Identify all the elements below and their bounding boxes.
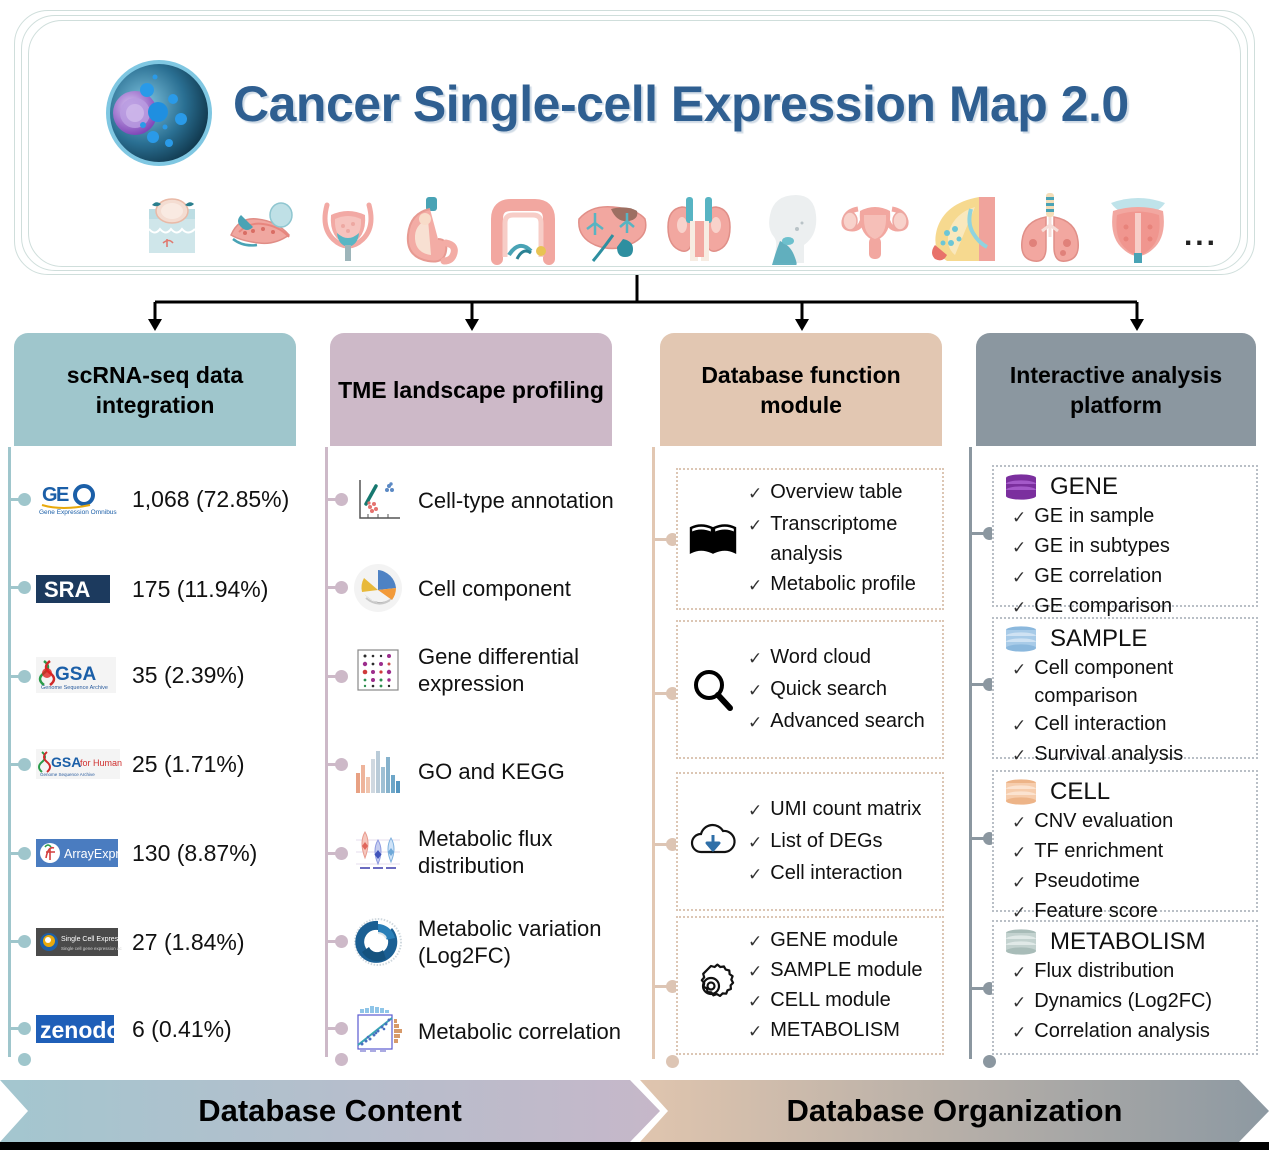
column-title-platform: Interactive analysis platform bbox=[976, 333, 1256, 446]
node-gde bbox=[335, 670, 348, 683]
footer-banner: Database Content Database Organization bbox=[0, 1080, 1269, 1142]
function-item: Advanced search bbox=[770, 706, 925, 738]
bar-chart-icon bbox=[352, 745, 404, 797]
function-list-browse: ✓Overview table ✓Transcriptome analysis … bbox=[748, 477, 936, 601]
tme-item-metabolic-flux-distribution: Metabolic flux distribution bbox=[352, 825, 622, 879]
check-icon: ✓ bbox=[748, 706, 762, 738]
tme-label-metabolic-correlation: Metabolic correlation bbox=[418, 1018, 621, 1045]
check-icon: ✓ bbox=[748, 794, 762, 826]
connector-tree bbox=[0, 275, 1269, 335]
dot-heatmap-icon bbox=[352, 644, 404, 696]
zenodo-logo: zenodo bbox=[36, 1012, 122, 1046]
platform-module-sample[interactable]: SAMPLE ✓Cell component comparison ✓Cell … bbox=[992, 617, 1258, 759]
skin-icon bbox=[128, 189, 216, 265]
node-sra bbox=[18, 581, 31, 594]
rail-col2 bbox=[325, 447, 328, 1057]
function-item: List of DEGs bbox=[770, 826, 882, 858]
check-icon: ✓ bbox=[1012, 957, 1026, 987]
svg-text:ArrayExpress: ArrayExpress bbox=[64, 847, 122, 861]
platform-item: GE correlation bbox=[1034, 562, 1162, 592]
svg-text:E: E bbox=[56, 484, 69, 506]
platform-item: Cell component comparison bbox=[1034, 654, 1248, 710]
source-row-scea: Single Cell Expression Atlas Single cell… bbox=[36, 925, 245, 959]
gear-icon bbox=[686, 962, 740, 1010]
source-row-sra: SRA 175 (11.94%) bbox=[36, 572, 268, 606]
platform-module-gene-title: GENE bbox=[1004, 473, 1248, 501]
source-count-sra: 175 (11.94%) bbox=[132, 576, 268, 603]
platform-item: GE in subtypes bbox=[1034, 532, 1170, 562]
node-geo bbox=[18, 493, 31, 506]
function-list-modules: ✓GENE module ✓SAMPLE module ✓CELL module… bbox=[748, 926, 923, 1046]
tme-item-metabolic-variation: Metabolic variation (Log2FC) bbox=[352, 915, 622, 969]
column-platform: Interactive analysis platform bbox=[976, 333, 1256, 446]
node-go-kegg bbox=[335, 758, 348, 771]
kidney-icon bbox=[655, 189, 743, 265]
svg-text:Genome Sequence Archive: Genome Sequence Archive bbox=[40, 772, 95, 777]
check-icon: ✓ bbox=[748, 674, 762, 706]
check-icon: ✓ bbox=[1012, 807, 1026, 837]
check-icon: ✓ bbox=[1012, 987, 1026, 1017]
function-item: CELL module bbox=[770, 986, 890, 1016]
platform-list-sample: ✓Cell component comparison ✓Cell interac… bbox=[1004, 654, 1248, 770]
pie-chart-icon bbox=[352, 562, 404, 614]
source-row-zenodo: zenodo 6 (0.41%) bbox=[36, 1012, 232, 1046]
check-icon: ✓ bbox=[748, 986, 762, 1016]
sra-logo: SRA bbox=[36, 572, 122, 606]
magnifier-icon bbox=[686, 667, 740, 713]
platform-item: Survival analysis bbox=[1034, 740, 1183, 770]
function-item: Cell interaction bbox=[770, 858, 902, 890]
platform-item: Flux distribution bbox=[1034, 957, 1174, 987]
source-row-gsa: GSA Genome Sequence Archive 35 (2.39%) bbox=[36, 658, 245, 692]
check-icon: ✓ bbox=[1012, 710, 1026, 740]
tme-label-cell-component: Cell component bbox=[418, 575, 571, 602]
tme-label-metabolic-variation: Metabolic variation (Log2FC) bbox=[418, 915, 622, 969]
check-icon: ✓ bbox=[1012, 532, 1026, 562]
function-item: UMI count matrix bbox=[770, 794, 921, 826]
platform-module-gene[interactable]: GENE ✓GE in sample ✓GE in subtypes ✓GE c… bbox=[992, 465, 1258, 607]
open-book-icon bbox=[686, 520, 740, 558]
svg-text:Single Cell Expression Atlas: Single Cell Expression Atlas bbox=[61, 936, 122, 943]
function-group-download[interactable]: ✓UMI count matrix ✓List of DEGs ✓Cell in… bbox=[676, 772, 944, 911]
platform-list-metabolism: ✓Flux distribution ✓Dynamics (Log2FC) ✓C… bbox=[1004, 957, 1248, 1047]
platform-module-metabolism[interactable]: METABOLISM ✓Flux distribution ✓Dynamics … bbox=[992, 920, 1258, 1055]
svg-text:for Human: for Human bbox=[80, 758, 122, 768]
source-row-arrayexpress: ArrayExpress 130 (8.87%) bbox=[36, 836, 257, 870]
correlation-scatter-icon bbox=[352, 1005, 404, 1057]
check-icon: ✓ bbox=[748, 858, 762, 890]
tme-label-cell-type-annotation: Cell-type annotation bbox=[418, 487, 614, 514]
platform-item: Pseudotime bbox=[1034, 867, 1140, 897]
header-panel: Cancer Single-cell Expression Map 2.0 bbox=[14, 10, 1255, 275]
function-item: Overview table bbox=[770, 477, 902, 509]
check-icon: ✓ bbox=[748, 477, 762, 509]
database-icon bbox=[1004, 929, 1038, 956]
check-icon: ✓ bbox=[748, 956, 762, 986]
source-row-geo: G E Gene Expression Omnibus 1,068 (72.85… bbox=[36, 482, 289, 516]
column-title-scrna-seq: scRNA-seq data integration bbox=[14, 333, 296, 446]
check-icon: ✓ bbox=[748, 926, 762, 956]
platform-item: CNV evaluation bbox=[1034, 807, 1173, 837]
function-list-search: ✓Word cloud ✓Quick search ✓Advanced sear… bbox=[748, 642, 925, 738]
node-cell-type bbox=[335, 493, 348, 506]
organ-icon-row: ... bbox=[128, 185, 1218, 265]
tme-label-gene-differential-expression: Gene differential expression bbox=[418, 643, 622, 697]
function-item: Quick search bbox=[770, 674, 887, 706]
tme-label-go-kegg: GO and KEGG bbox=[418, 758, 565, 785]
platform-list-cell: ✓CNV evaluation ✓TF enrichment ✓Pseudoti… bbox=[1004, 807, 1248, 927]
platform-module-cell-name: CELL bbox=[1050, 778, 1110, 806]
svg-text:SRA: SRA bbox=[44, 577, 91, 602]
cell-nucleus-icon bbox=[103, 57, 215, 169]
node-scea bbox=[18, 935, 31, 948]
database-icon bbox=[1004, 474, 1038, 501]
node-gsa-human bbox=[18, 758, 31, 771]
platform-module-sample-name: SAMPLE bbox=[1050, 625, 1147, 653]
bladder-icon bbox=[304, 189, 392, 265]
node-correlation bbox=[335, 1022, 348, 1035]
source-count-arrayexpress: 130 (8.87%) bbox=[132, 840, 257, 867]
check-icon: ✓ bbox=[748, 1016, 762, 1046]
function-item: Word cloud bbox=[770, 642, 871, 674]
pancreas-icon bbox=[216, 189, 304, 265]
column-title-db-function: Database function module bbox=[660, 333, 942, 446]
gsa-logo: GSA Genome Sequence Archive bbox=[36, 658, 122, 692]
check-icon: ✓ bbox=[1012, 502, 1026, 532]
check-icon: ✓ bbox=[1012, 740, 1026, 770]
head-neck-icon bbox=[743, 189, 831, 265]
single-cell-expression-atlas-logo: Single Cell Expression Atlas Single cell… bbox=[36, 925, 122, 959]
platform-list-gene: ✓GE in sample ✓GE in subtypes ✓GE correl… bbox=[1004, 502, 1248, 622]
platform-module-cell[interactable]: CELL ✓CNV evaluation ✓TF enrichment ✓Pse… bbox=[992, 770, 1258, 912]
rail-col1 bbox=[8, 447, 11, 1057]
uterus-icon bbox=[831, 189, 919, 265]
gsa-human-logo: GSA for Human Genome Sequence Archive bbox=[36, 747, 122, 781]
check-icon: ✓ bbox=[748, 569, 762, 601]
scatter-plot-icon bbox=[352, 474, 404, 526]
node-variation bbox=[335, 935, 348, 948]
svg-text:Single cell gene expression ac: Single cell gene expression across speci… bbox=[61, 946, 122, 951]
database-icon bbox=[1004, 779, 1038, 806]
check-icon: ✓ bbox=[748, 642, 762, 674]
node-col2-end bbox=[335, 1053, 348, 1066]
page-title: Cancer Single-cell Expression Map 2.0 bbox=[233, 75, 1223, 133]
function-group-browse[interactable]: ✓Overview table ✓Transcriptome analysis … bbox=[676, 468, 944, 610]
platform-module-metabolism-name: METABOLISM bbox=[1050, 928, 1206, 956]
prostate-icon bbox=[1094, 189, 1182, 265]
stomach-icon bbox=[391, 189, 479, 265]
more-organs-ellipsis: ... bbox=[1184, 219, 1218, 265]
check-icon: ✓ bbox=[1012, 867, 1026, 897]
function-item: GENE module bbox=[770, 926, 898, 956]
column-db-function: Database function module bbox=[660, 333, 942, 446]
violin-plot-icon bbox=[352, 826, 404, 878]
liver-icon bbox=[567, 189, 655, 265]
platform-item: Correlation analysis bbox=[1034, 1017, 1210, 1047]
bottom-bar bbox=[0, 1142, 1269, 1150]
function-item: METABOLISM bbox=[770, 1016, 900, 1046]
column-scrna-seq: scRNA-seq data integration bbox=[14, 333, 296, 446]
geo-logo: G E Gene Expression Omnibus bbox=[36, 482, 122, 516]
check-icon: ✓ bbox=[1012, 837, 1026, 867]
tme-item-cell-type-annotation: Cell-type annotation bbox=[352, 474, 622, 526]
function-item: SAMPLE module bbox=[770, 956, 922, 986]
column-title-tme: TME landscape profiling bbox=[330, 333, 612, 446]
arrayexpress-logo: ArrayExpress bbox=[36, 836, 122, 870]
tme-label-metabolic-flux-distribution: Metabolic flux distribution bbox=[418, 825, 622, 879]
node-flux bbox=[335, 847, 348, 860]
node-zenodo bbox=[18, 1022, 31, 1035]
column-tme: TME landscape profiling bbox=[330, 333, 612, 446]
function-group-modules[interactable]: ✓GENE module ✓SAMPLE module ✓CELL module… bbox=[676, 916, 944, 1055]
platform-module-gene-name: GENE bbox=[1050, 473, 1118, 501]
svg-text:GSA: GSA bbox=[55, 664, 96, 685]
svg-text:Gene Expression Omnibus: Gene Expression Omnibus bbox=[39, 509, 117, 516]
node-col3-end bbox=[666, 1055, 679, 1068]
function-list-download: ✓UMI count matrix ✓List of DEGs ✓Cell in… bbox=[748, 794, 921, 890]
cloud-download-icon bbox=[686, 822, 740, 862]
tme-item-gene-differential-expression: Gene differential expression bbox=[352, 643, 622, 697]
svg-text:G: G bbox=[42, 484, 57, 506]
function-item: Metabolic profile bbox=[770, 569, 916, 601]
footer-label-content: Database Content bbox=[0, 1080, 660, 1142]
function-group-search[interactable]: ✓Word cloud ✓Quick search ✓Advanced sear… bbox=[676, 620, 944, 759]
platform-item: TF enrichment bbox=[1034, 837, 1163, 867]
source-count-gsa-human: 25 (1.71%) bbox=[132, 751, 245, 778]
function-item: Transcriptome analysis bbox=[770, 509, 936, 569]
source-count-geo: 1,068 (72.85%) bbox=[132, 486, 289, 513]
check-icon: ✓ bbox=[748, 509, 762, 569]
platform-module-metabolism-title: METABOLISM bbox=[1004, 928, 1248, 956]
node-col1-end bbox=[18, 1053, 31, 1066]
source-count-gsa: 35 (2.39%) bbox=[132, 662, 245, 689]
source-count-zenodo: 6 (0.41%) bbox=[132, 1016, 232, 1043]
tme-item-cell-component: Cell component bbox=[352, 562, 622, 614]
tme-item-go-kegg: GO and KEGG bbox=[352, 745, 622, 797]
source-count-scea: 27 (1.84%) bbox=[132, 929, 245, 956]
platform-item: Cell interaction bbox=[1034, 710, 1166, 740]
node-cell-component bbox=[335, 581, 348, 594]
check-icon: ✓ bbox=[748, 826, 762, 858]
check-icon: ✓ bbox=[1012, 562, 1026, 592]
node-arrayexpress bbox=[18, 847, 31, 860]
node-col4-end bbox=[983, 1055, 996, 1068]
database-icon bbox=[1004, 626, 1038, 653]
check-icon: ✓ bbox=[1012, 1017, 1026, 1047]
svg-text:GSA: GSA bbox=[51, 754, 81, 770]
lung-icon bbox=[1006, 189, 1094, 265]
platform-module-cell-title: CELL bbox=[1004, 778, 1248, 806]
rail-col4 bbox=[969, 447, 972, 1059]
footer-label-organization: Database Organization bbox=[640, 1080, 1269, 1142]
platform-module-sample-title: SAMPLE bbox=[1004, 625, 1248, 653]
platform-item: Dynamics (Log2FC) bbox=[1034, 987, 1212, 1017]
platform-item: GE in sample bbox=[1034, 502, 1154, 532]
check-icon: ✓ bbox=[1012, 654, 1026, 710]
svg-text:Genome Sequence Archive: Genome Sequence Archive bbox=[41, 685, 108, 691]
tme-item-metabolic-correlation: Metabolic correlation bbox=[352, 1005, 622, 1057]
circular-plot-icon bbox=[352, 916, 404, 968]
node-gsa bbox=[18, 670, 31, 683]
svg-text:zenodo: zenodo bbox=[40, 1017, 121, 1043]
colon-icon bbox=[479, 189, 567, 265]
source-row-gsa-human: GSA for Human Genome Sequence Archive 25… bbox=[36, 747, 245, 781]
breast-icon bbox=[918, 189, 1006, 265]
